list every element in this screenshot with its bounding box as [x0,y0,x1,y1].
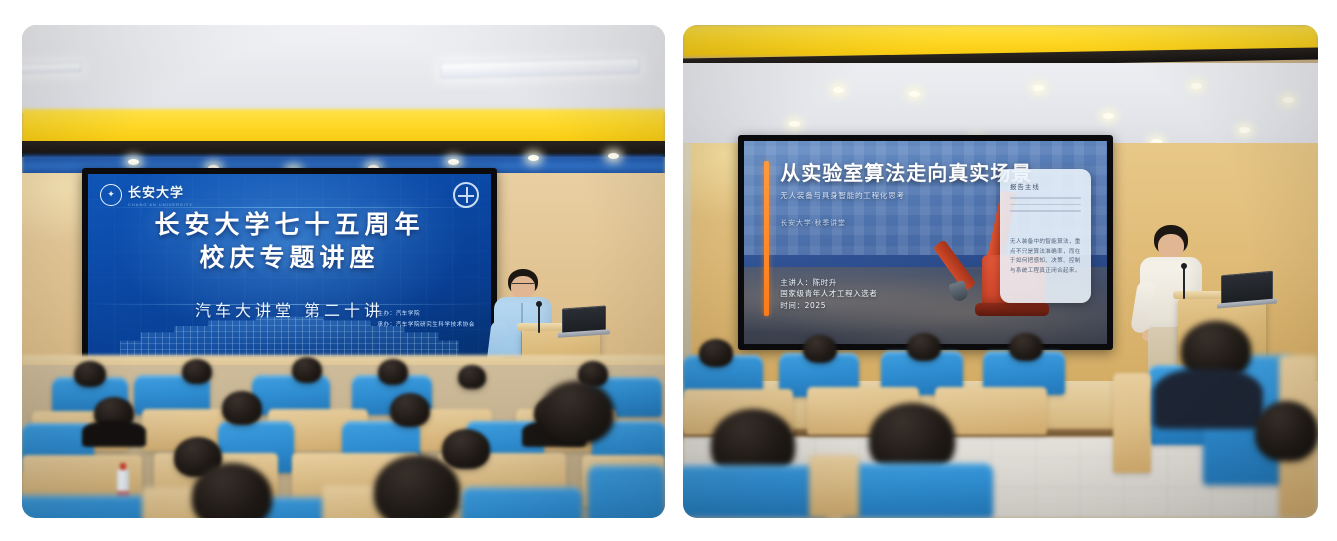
audience-head [378,359,408,385]
downlight-icon [608,153,619,159]
poster-organizer-co: 承办：汽车学院研究生科学技术协会 [377,320,475,330]
seat-row-near-right [683,465,827,518]
audience-head [390,393,430,427]
secondary-emblem-icon [453,182,479,208]
slide-talk-date: 时间：2025 [780,300,877,312]
microphone-icon-left [538,305,540,333]
poster-title-line2: 校庆专题讲座 [88,241,491,274]
window-strip-right [683,143,691,373]
seat-row1 [588,465,665,518]
speaker-face [511,276,535,299]
university-logo-name: 长安大学 [128,186,184,201]
excavator-track [975,303,1049,316]
audience-head-foreground [374,455,460,518]
downlight-icon [448,159,459,165]
downlight-icon [128,159,139,165]
audience-head [182,359,212,384]
downlight-icon [1191,83,1202,89]
audience-shoulders [1153,369,1263,429]
slide-speaker-title: 国家级青年人才工程入选者 [780,288,877,300]
audience-head [907,333,941,361]
ceiling-accent-band-left [22,109,665,145]
audience-head [1009,333,1043,361]
audience-head [699,339,733,367]
audience-head [222,391,262,425]
desk-near-right [809,455,859,518]
audience-head-foreground [540,381,614,443]
desk-aisle-right [1113,373,1151,473]
poster-title: 长安大学七十五周年 校庆专题讲座 [88,208,491,274]
audience-shoulders [82,421,146,447]
downlight-icon [1239,127,1250,133]
audience-head [292,357,322,383]
slide-technical-talk: 从实验室算法走向真实场景 无人装备与具身智能的工程化思考 长安大学·秋季讲堂 主… [744,141,1107,344]
slide-speaker-block: 主讲人：陈时升 国家级青年人才工程入选者 时间：2025 [780,277,877,312]
slide-subtitle: 无人装备与具身智能的工程化思考 [780,190,905,201]
slide-accent-bar [764,161,769,315]
downlight-icon [789,121,800,127]
seat-row1 [22,495,162,518]
seat-row1 [462,487,582,518]
photo-collage-page: ✦ 长安大学 CHANG'AN UNIVERSITY 长安大学七十五周年 校庆专… [0,0,1337,541]
downlight-icon [528,155,539,161]
slide-venue: 长安大学·秋季讲堂 [780,218,845,228]
projection-screen-right: 从实验室算法走向真实场景 无人装备与具身智能的工程化思考 长安大学·秋季讲堂 主… [738,135,1113,350]
university-seal-icon: ✦ [100,184,122,206]
university-logo-sub: CHANG'AN UNIVERSITY [128,202,193,207]
slide-outline-card: 报告主线 无人装备中的智能算法，重点不只是算法准确率，而在于如何把感知、决策、控… [1000,169,1091,303]
university-logo: ✦ 长安大学 CHANG'AN UNIVERSITY [100,182,193,207]
downlight-icon [1033,85,1044,91]
downlight-icon [833,87,844,93]
slide-card-body: 无人装备中的智能算法，重点不只是算法准确率，而在于如何把感知、决策、控制与系统工… [1010,238,1081,277]
slide-title: 从实验室算法走向真实场景 [780,157,1032,186]
audience-head [458,365,486,389]
poster-organizer-main: 主办：汽车学院 [377,309,475,319]
audience-head [442,429,490,469]
microphone-icon-right [1183,267,1185,299]
slide-card-rules [1010,197,1081,212]
seat-row-near-right [843,463,993,518]
audience-head [803,335,837,363]
downlight-icon [1283,97,1294,103]
projection-screen-left: ✦ 长安大学 CHANG'AN UNIVERSITY 长安大学七十五周年 校庆专… [82,168,497,366]
audience-head-foreground [1255,401,1318,461]
downlight-icon [1103,113,1114,119]
speaker-face [1158,234,1184,259]
speaker-glasses-icon [512,283,534,287]
audience-head [74,361,106,387]
photo-right: 从实验室算法走向真实场景 无人装备与具身智能的工程化思考 长安大学·秋季讲堂 主… [683,25,1318,518]
poster-organizers: 主办：汽车学院 承办：汽车学院研究生科学技术协会 [377,309,475,330]
slide-speaker-name: 主讲人：陈时升 [780,277,877,289]
photo-left: ✦ 长安大学 CHANG'AN UNIVERSITY 长安大学七十五周年 校庆专… [22,25,665,518]
slide-card-heading: 报告主线 [1010,181,1081,191]
downlight-icon [909,91,920,97]
slide-anniversary: ✦ 长安大学 CHANG'AN UNIVERSITY 长安大学七十五周年 校庆专… [88,174,491,360]
poster-title-line1: 长安大学七十五周年 [88,208,491,241]
